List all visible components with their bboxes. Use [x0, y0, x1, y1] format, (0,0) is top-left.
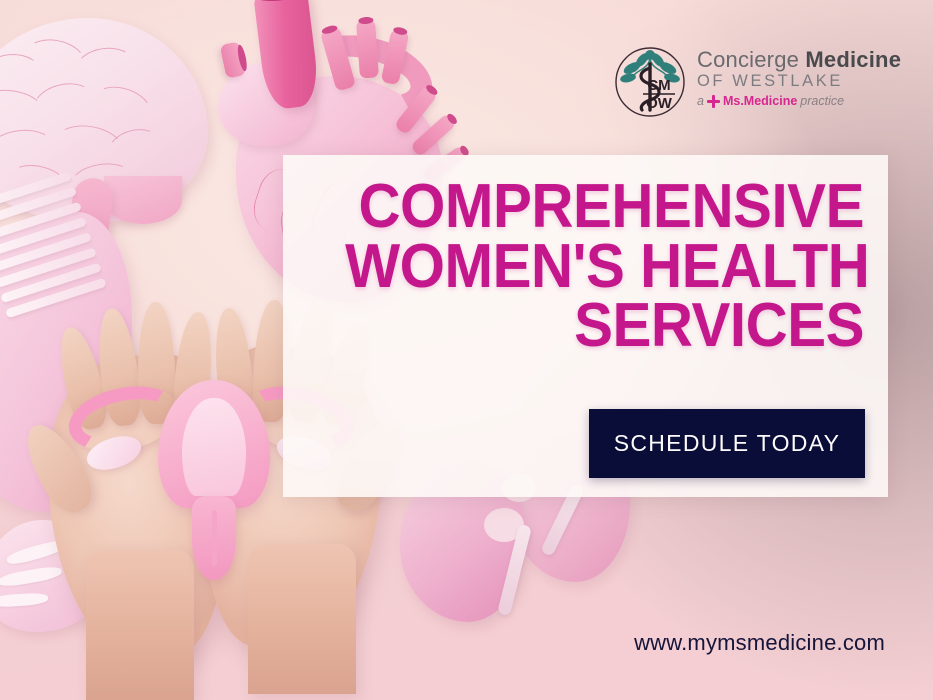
headline-line-2: WOMEN'S HEALTH	[345, 237, 864, 297]
logo-tagline: a Ms.Medicine practice	[697, 92, 901, 111]
page-title: COMPREHENSIVE WOMEN'S HEALTH SERVICES	[345, 177, 864, 356]
svg-text:OW: OW	[646, 95, 673, 112]
logo-line-1: Concierge Medicine	[697, 49, 901, 71]
tagline-prefix: a	[697, 92, 704, 111]
logo-wordmark: Concierge Medicine OF WESTLAKE a Ms.Medi…	[697, 44, 901, 111]
schedule-today-label: SCHEDULE TODAY	[614, 430, 841, 457]
brand-logo[interactable]: CM OW Concierge Medicine OF WESTLAKE a M…	[612, 44, 912, 130]
tagline-brand: Ms.Medicine	[723, 92, 797, 111]
schedule-today-button[interactable]: SCHEDULE TODAY	[589, 409, 865, 478]
logo-line-2: OF WESTLAKE	[697, 71, 901, 92]
tagline-suffix: practice	[800, 92, 844, 111]
medical-cross-icon	[707, 95, 720, 108]
website-url[interactable]: www.mymsmedicine.com	[0, 630, 885, 656]
headline-line-1: COMPREHENSIVE	[345, 177, 864, 237]
caduceus-icon: CM OW	[612, 44, 688, 120]
poster-canvas: CM OW Concierge Medicine OF WESTLAKE a M…	[0, 0, 933, 700]
content-card: COMPREHENSIVE WOMEN'S HEALTH SERVICES SC…	[283, 155, 888, 497]
logo-medicine: Medicine	[805, 47, 901, 72]
headline-line-3: SERVICES	[345, 296, 864, 356]
svg-text:CM: CM	[647, 77, 670, 94]
logo-concierge: Concierge	[697, 47, 805, 72]
